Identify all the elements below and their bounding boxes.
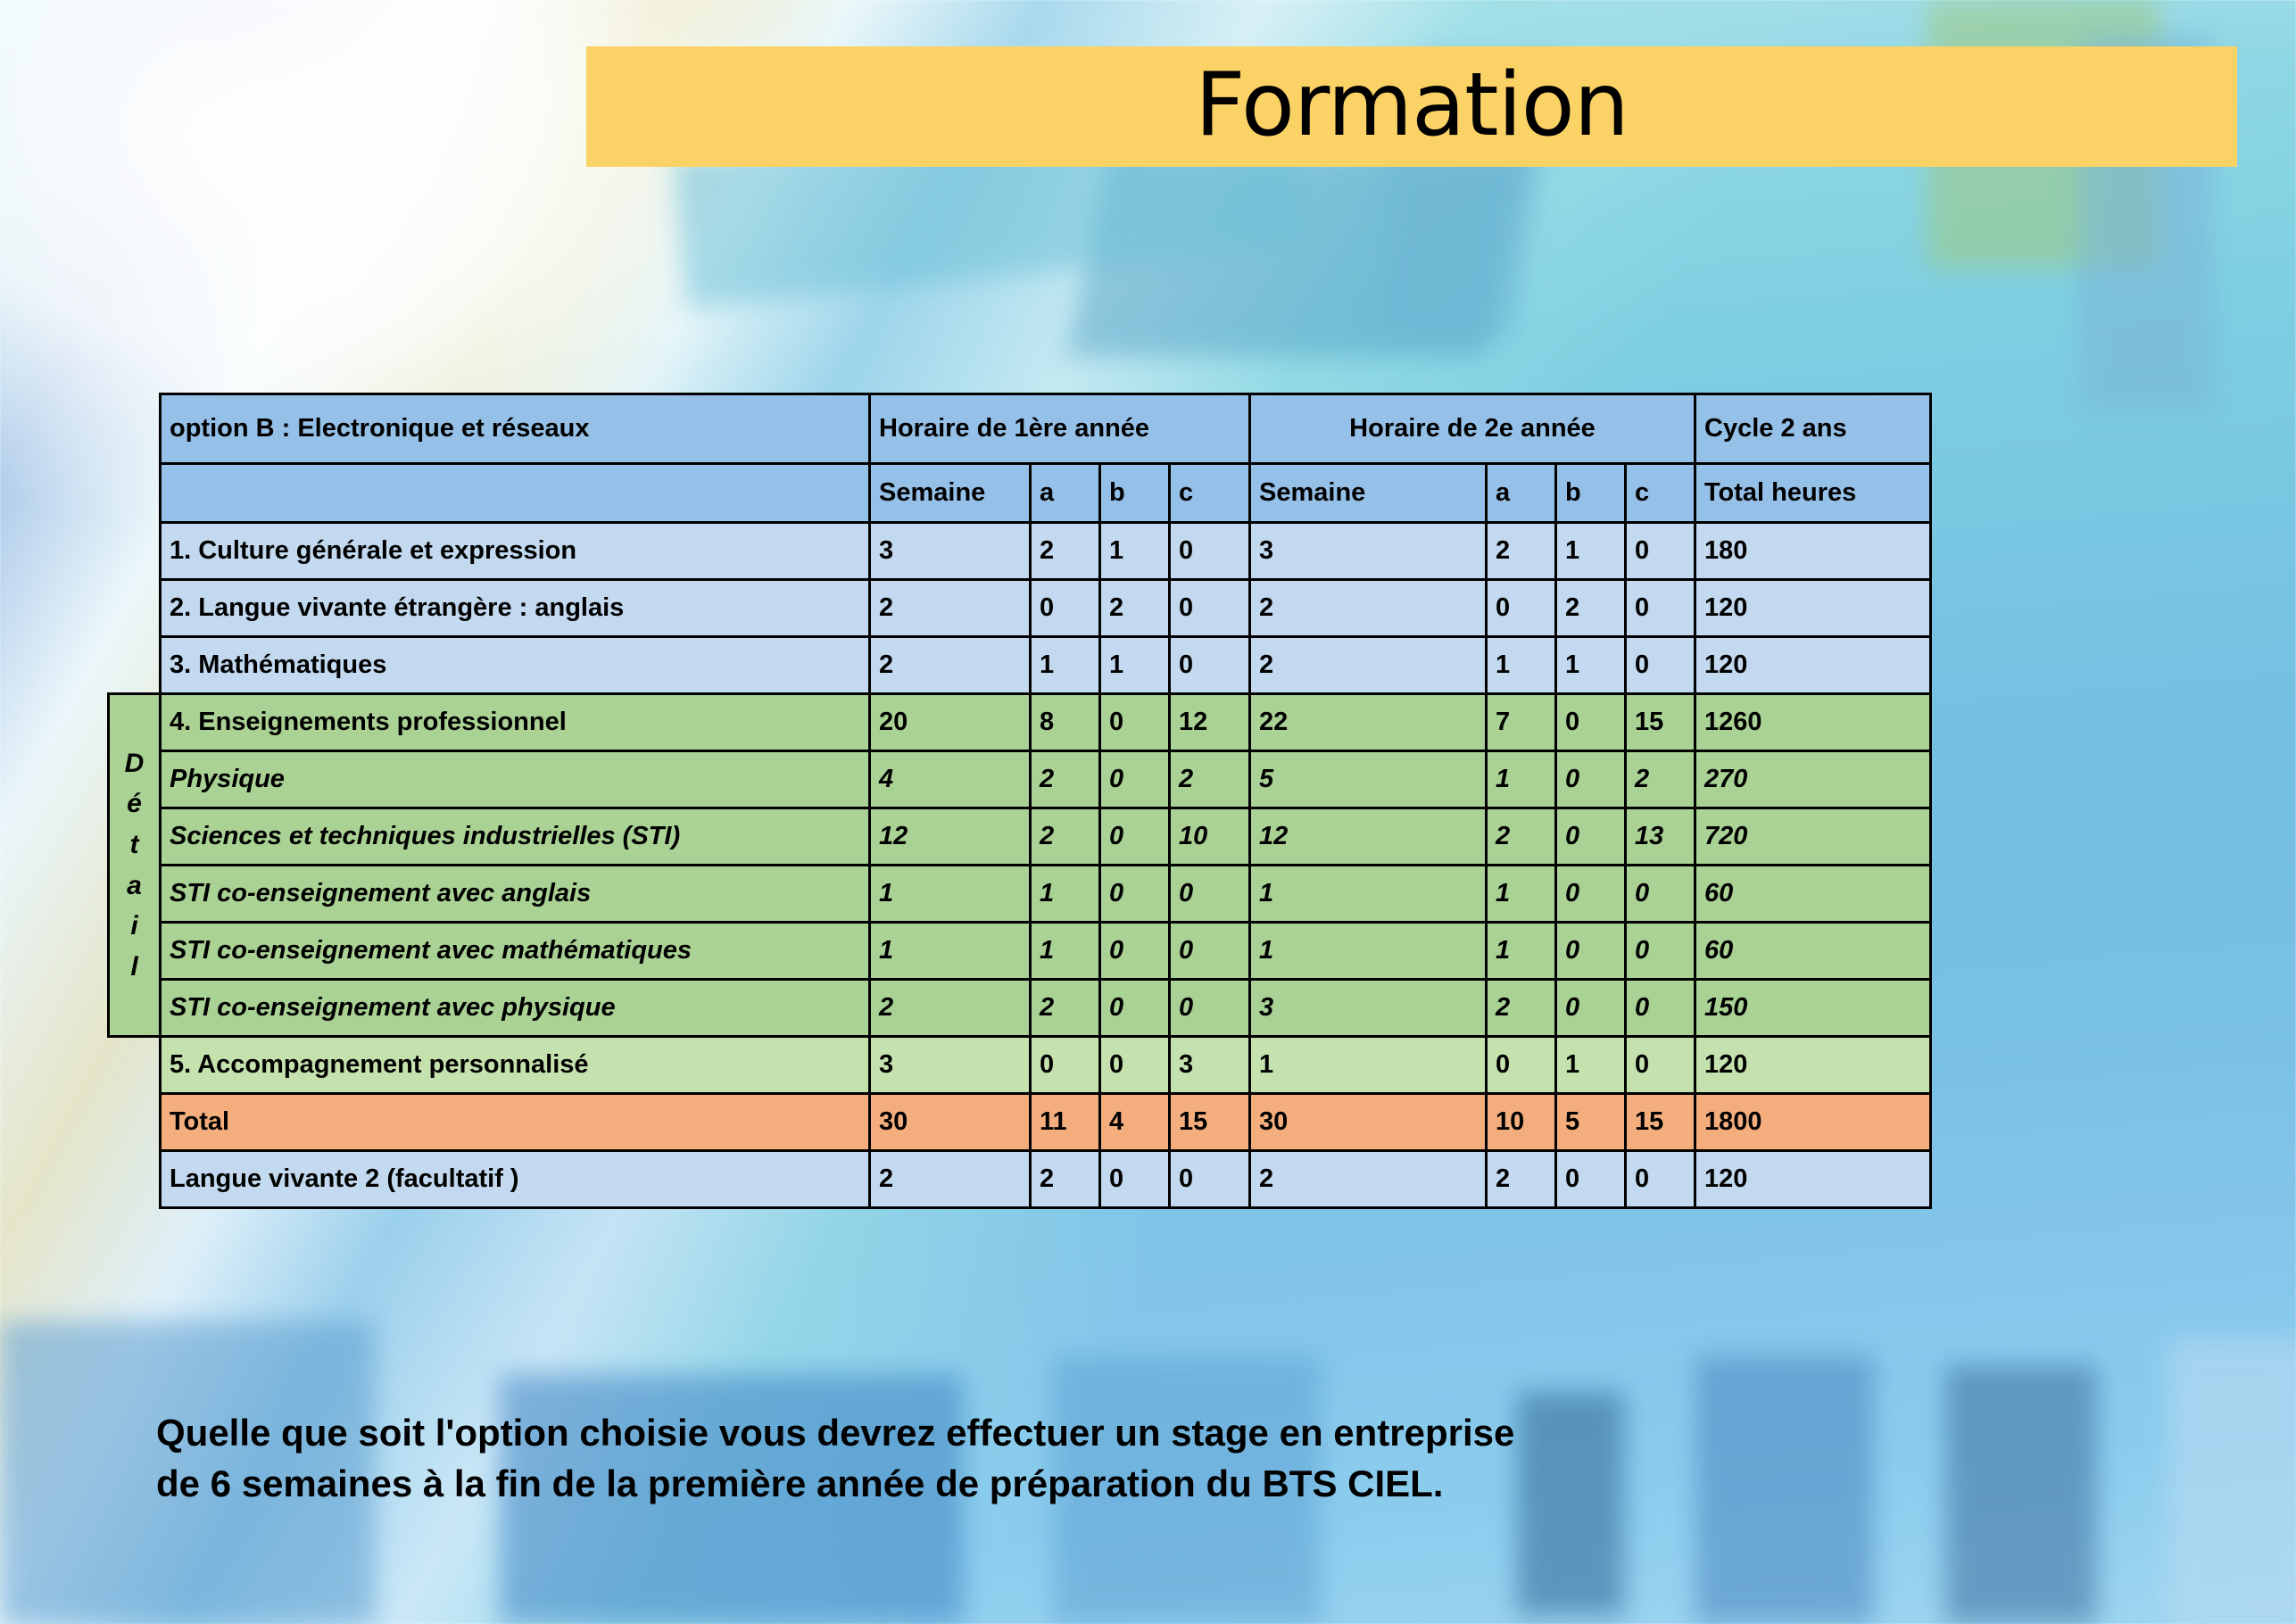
detail-spacer [109,1037,161,1094]
row-total-hours: 1260 [1695,694,1931,751]
row-a-year2: 2 [1487,1151,1556,1208]
schedule-table: option B : Electronique et réseaux Horai… [107,393,1932,1209]
row-c-year1: 0 [1170,980,1250,1037]
row-semaine-year1: 2 [870,1151,1031,1208]
row-semaine-year1: 20 [870,694,1031,751]
table-row: 3. Mathématiques21102110120 [109,637,1931,694]
row-c-year2: 0 [1626,580,1695,637]
row-total-hours: 120 [1695,1151,1931,1208]
row-b-year1: 0 [1100,694,1170,751]
row-label: STI co-enseignement avec anglais [161,866,870,923]
header-a-1: a [1031,464,1100,523]
row-a-year1: 0 [1031,1037,1100,1094]
row-c-year1: 0 [1170,523,1250,580]
row-semaine-year2: 1 [1250,923,1487,980]
header-semaine-2: Semaine [1250,464,1487,523]
table-row: STI co-enseignement avec physique2200320… [109,980,1931,1037]
row-b-year1: 0 [1100,1037,1170,1094]
row-a-year2: 2 [1487,808,1556,866]
row-c-year1: 0 [1170,580,1250,637]
row-a-year2: 1 [1487,866,1556,923]
row-semaine-year2: 1 [1250,866,1487,923]
row-semaine-year1: 3 [870,1037,1031,1094]
row-c-year2: 0 [1626,1151,1695,1208]
row-semaine-year2: 1 [1250,1037,1487,1094]
row-total-hours: 150 [1695,980,1931,1037]
row-a-year1: 2 [1031,1151,1100,1208]
table-header-row-top: option B : Electronique et réseaux Horai… [109,394,1931,464]
detail-letter: a [127,866,142,907]
detail-letter: D [125,743,145,784]
row-c-year1: 3 [1170,1037,1250,1094]
row-b-year2: 1 [1556,1037,1626,1094]
row-semaine-year1: 3 [870,523,1031,580]
internship-note-line-2: de 6 semaines à la fin de la première an… [156,1459,2075,1510]
row-b-year1: 0 [1100,923,1170,980]
row-semaine-year1: 12 [870,808,1031,866]
detail-letter: t [130,824,139,866]
row-b-year2: 1 [1556,637,1626,694]
row-semaine-year2: 2 [1250,637,1487,694]
row-a-year2: 10 [1487,1094,1556,1151]
row-a-year1: 11 [1031,1094,1100,1151]
row-a-year1: 1 [1031,923,1100,980]
table-row: Détail4. Enseignements professionnel2080… [109,694,1931,751]
row-total-hours: 720 [1695,808,1931,866]
row-c-year2: 0 [1626,980,1695,1037]
row-label: 5. Accompagnement personnalisé [161,1037,870,1094]
row-b-year1: 0 [1100,1151,1170,1208]
detail-spacer [109,1094,161,1151]
row-b-year1: 0 [1100,808,1170,866]
row-c-year2: 15 [1626,1094,1695,1151]
row-label: STI co-enseignement avec physique [161,980,870,1037]
detail-letter: l [130,947,137,988]
table-row: 2. Langue vivante étrangère : anglais202… [109,580,1931,637]
title-banner: Formation [586,46,2237,167]
row-c-year1: 2 [1170,751,1250,808]
row-c-year1: 0 [1170,866,1250,923]
row-b-year2: 1 [1556,523,1626,580]
row-semaine-year1: 2 [870,637,1031,694]
header-c-1: c [1170,464,1250,523]
row-a-year1: 1 [1031,637,1100,694]
row-semaine-year1: 1 [870,923,1031,980]
row-semaine-year2: 30 [1250,1094,1487,1151]
row-semaine-year1: 1 [870,866,1031,923]
row-total-hours: 120 [1695,637,1931,694]
header-a-2: a [1487,464,1556,523]
row-c-year2: 0 [1626,523,1695,580]
row-b-year2: 0 [1556,751,1626,808]
table-row: 1. Culture générale et expression3210321… [109,523,1931,580]
table-header-row-sub: Semaine a b c Semaine a b c Total heures [109,464,1931,523]
row-semaine-year2: 3 [1250,523,1487,580]
row-c-year2: 0 [1626,637,1695,694]
row-a-year1: 8 [1031,694,1100,751]
detail-letter: é [127,783,142,824]
row-c-year1: 10 [1170,808,1250,866]
row-a-year2: 1 [1487,751,1556,808]
table-row: STI co-enseignement avec mathématiques11… [109,923,1931,980]
row-a-year2: 0 [1487,1037,1556,1094]
header-option: option B : Electronique et réseaux [161,394,870,464]
row-b-year2: 0 [1556,1151,1626,1208]
row-c-year2: 13 [1626,808,1695,866]
page-title: Formation [1195,62,1629,149]
row-b-year1: 2 [1100,580,1170,637]
row-c-year2: 15 [1626,694,1695,751]
detail-vertical-label: Détail [109,694,161,1037]
detail-spacer [109,637,161,694]
row-total-hours: 60 [1695,923,1931,980]
row-b-year2: 0 [1556,866,1626,923]
detail-spacer-top [109,394,161,464]
row-a-year1: 0 [1031,580,1100,637]
row-b-year2: 2 [1556,580,1626,637]
row-semaine-year2: 2 [1250,580,1487,637]
row-a-year2: 2 [1487,523,1556,580]
row-a-year1: 1 [1031,866,1100,923]
header-year-2: Horaire de 2e année [1250,394,1695,464]
header-cycle: Cycle 2 ans [1695,394,1931,464]
row-b-year2: 0 [1556,694,1626,751]
row-label: 1. Culture générale et expression [161,523,870,580]
row-b-year2: 0 [1556,923,1626,980]
header-total-hours: Total heures [1695,464,1931,523]
table-row: Physique42025102270 [109,751,1931,808]
header-semaine-1: Semaine [870,464,1031,523]
table-row: Total301141530105151800 [109,1094,1931,1151]
row-a-year1: 2 [1031,523,1100,580]
detail-spacer-sub [109,464,161,523]
row-total-hours: 270 [1695,751,1931,808]
row-b-year1: 0 [1100,980,1170,1037]
row-b-year1: 0 [1100,866,1170,923]
row-b-year2: 0 [1556,980,1626,1037]
row-a-year1: 2 [1031,808,1100,866]
row-total-hours: 180 [1695,523,1931,580]
row-semaine-year1: 2 [870,580,1031,637]
row-a-year2: 0 [1487,580,1556,637]
detail-spacer [109,1151,161,1208]
row-b-year1: 1 [1100,523,1170,580]
row-b-year1: 4 [1100,1094,1170,1151]
row-c-year2: 2 [1626,751,1695,808]
row-semaine-year2: 2 [1250,1151,1487,1208]
row-semaine-year2: 22 [1250,694,1487,751]
row-total-hours: 120 [1695,580,1931,637]
row-a-year1: 2 [1031,980,1100,1037]
row-label: Langue vivante 2 (facultatif ) [161,1151,870,1208]
row-label: 4. Enseignements professionnel [161,694,870,751]
row-semaine-year2: 12 [1250,808,1487,866]
header-b-2: b [1556,464,1626,523]
row-b-year1: 1 [1100,637,1170,694]
row-c-year1: 12 [1170,694,1250,751]
row-a-year1: 2 [1031,751,1100,808]
row-label: Sciences et techniques industrielles (ST… [161,808,870,866]
row-a-year2: 1 [1487,637,1556,694]
detail-spacer [109,580,161,637]
row-total-hours: 120 [1695,1037,1931,1094]
internship-note: Quelle que soit l'option choisie vous de… [156,1408,2075,1509]
detail-letter: i [130,906,137,947]
table-row: 5. Accompagnement personnalisé3003101012… [109,1037,1931,1094]
row-semaine-year1: 30 [870,1094,1031,1151]
row-semaine-year1: 4 [870,751,1031,808]
row-semaine-year2: 5 [1250,751,1487,808]
row-b-year1: 0 [1100,751,1170,808]
header-b-1: b [1100,464,1170,523]
detail-spacer [109,523,161,580]
row-semaine-year2: 3 [1250,980,1487,1037]
row-label: 3. Mathématiques [161,637,870,694]
row-label: Total [161,1094,870,1151]
schedule-table-container: option B : Electronique et réseaux Horai… [107,393,1932,1209]
row-a-year2: 7 [1487,694,1556,751]
row-a-year2: 1 [1487,923,1556,980]
row-b-year2: 0 [1556,808,1626,866]
internship-note-line-1: Quelle que soit l'option choisie vous de… [156,1408,2075,1459]
table-row: Langue vivante 2 (facultatif )2200220012… [109,1151,1931,1208]
row-c-year1: 0 [1170,637,1250,694]
row-c-year1: 15 [1170,1094,1250,1151]
row-c-year2: 0 [1626,1037,1695,1094]
header-year-1: Horaire de 1ère année [870,394,1250,464]
row-total-hours: 60 [1695,866,1931,923]
row-semaine-year1: 2 [870,980,1031,1037]
row-c-year2: 0 [1626,866,1695,923]
header-blank [161,464,870,523]
row-label: Physique [161,751,870,808]
row-c-year2: 0 [1626,923,1695,980]
row-total-hours: 1800 [1695,1094,1931,1151]
table-row: STI co-enseignement avec anglais11001100… [109,866,1931,923]
row-label: STI co-enseignement avec mathématiques [161,923,870,980]
header-c-2: c [1626,464,1695,523]
row-label: 2. Langue vivante étrangère : anglais [161,580,870,637]
row-b-year2: 5 [1556,1094,1626,1151]
row-c-year1: 0 [1170,1151,1250,1208]
table-row: Sciences et techniques industrielles (ST… [109,808,1931,866]
row-c-year1: 0 [1170,923,1250,980]
row-a-year2: 2 [1487,980,1556,1037]
